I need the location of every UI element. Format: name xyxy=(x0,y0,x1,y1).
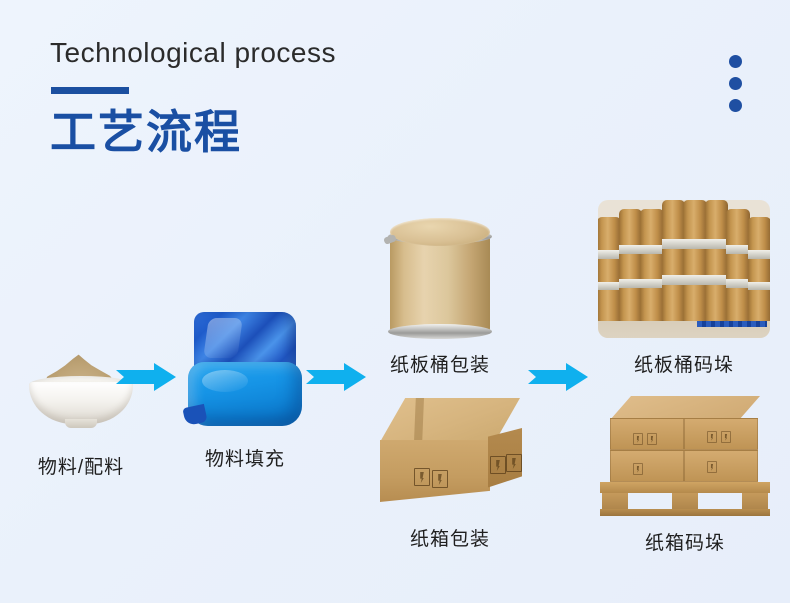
stacked-drum xyxy=(726,209,750,322)
flow-step-carton-packing: 纸箱包装 xyxy=(360,398,540,551)
page-title-english: Technological process xyxy=(50,38,336,69)
handling-symbol-icon xyxy=(707,461,717,472)
dot-icon xyxy=(729,99,742,112)
pallet-bottom-stringer xyxy=(600,509,770,516)
stacked-drum xyxy=(598,217,621,321)
wooden-pallet xyxy=(600,482,770,516)
palletized-cartons-illustration xyxy=(596,396,774,522)
flow-arrow-2-icon xyxy=(306,362,374,392)
fiber-drum-illustration xyxy=(372,214,508,342)
decorative-dots-group xyxy=(729,55,742,112)
flow-step-label-drum-packing: 纸板桶包装 xyxy=(372,350,508,377)
flow-step-label-carton-packing: 纸箱包装 xyxy=(360,524,540,551)
handling-symbol-icon xyxy=(707,431,717,442)
handling-symbol-icon xyxy=(647,433,657,444)
page-header: Technological process 工艺流程 xyxy=(50,38,336,159)
flow-step-filling: 物料填充 xyxy=(178,312,312,471)
pallet-deck xyxy=(600,482,770,493)
flow-step-drum-packing: 纸板桶包装 xyxy=(372,214,508,377)
stacked-drum xyxy=(748,217,771,321)
dot-icon xyxy=(729,77,742,90)
umbrella-handling-symbol-icon xyxy=(432,470,448,488)
fragile-handling-symbol-icon xyxy=(414,468,430,486)
flow-arrow-1-icon xyxy=(116,362,184,392)
drum-bottom-ring xyxy=(388,324,492,339)
stacked-drum xyxy=(619,209,643,322)
title-underline-rule xyxy=(51,87,129,94)
page-title-chinese: 工艺流程 xyxy=(50,106,336,159)
stacked-drum xyxy=(640,209,664,322)
flow-arrow-3-icon xyxy=(528,362,596,392)
flow-step-label-filling: 物料填充 xyxy=(178,444,312,471)
drum-stack-row xyxy=(598,200,770,321)
handling-symbol-icon xyxy=(633,463,643,474)
blue-plastic-bag-illustration xyxy=(178,312,312,434)
cardboard-carton-illustration xyxy=(360,398,540,518)
flow-step-label-drum-palletizing: 纸板桶码垛 xyxy=(598,350,770,377)
pallet-load-top-face xyxy=(610,396,760,420)
stacked-carton xyxy=(684,450,758,482)
flow-step-label-material: 物料/配料 xyxy=(6,452,156,479)
dot-icon xyxy=(729,55,742,68)
handling-symbol-icon xyxy=(721,431,731,442)
bowl-foot xyxy=(65,419,97,428)
flow-step-drum-palletizing: 纸板桶码垛 xyxy=(598,200,770,377)
drum-lid xyxy=(390,218,490,246)
fragile-handling-symbol-icon xyxy=(490,456,506,474)
stacked-carton xyxy=(610,450,684,482)
stacked-fiber-drums-photo xyxy=(598,200,770,338)
stacked-drum xyxy=(662,200,686,321)
stacked-drum xyxy=(683,200,707,321)
drum-body xyxy=(390,234,490,334)
flow-step-label-carton-palletizing: 纸箱码垛 xyxy=(596,528,774,555)
handling-symbol-icon xyxy=(633,433,643,444)
flow-step-carton-palletizing: 纸箱码垛 xyxy=(596,396,774,555)
this-way-up-symbol-icon xyxy=(506,454,522,472)
stacked-drum xyxy=(705,200,729,321)
